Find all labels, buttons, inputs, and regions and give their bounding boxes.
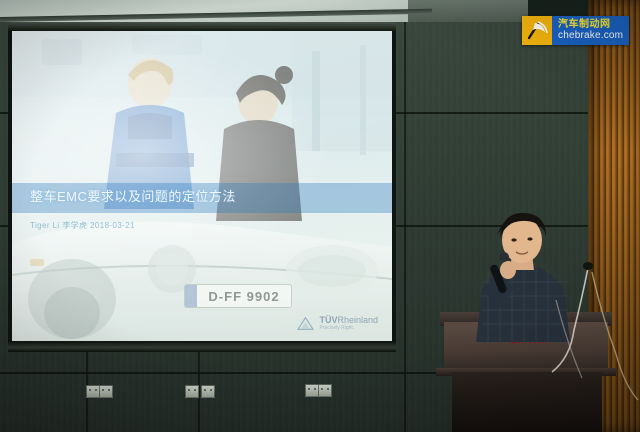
license-plate-number: D-FF 9902 xyxy=(197,289,291,304)
podium-base xyxy=(452,372,602,432)
screen-surface: 整车EMC要求以及问题的定位方法 Tiger Li 李学虎 2018-03-21… xyxy=(12,31,392,341)
slide-title: 整车EMC要求以及问题的定位方法 xyxy=(30,186,236,205)
screen-bottom-rail xyxy=(8,341,396,352)
tuv-tagline: Precisely Right. xyxy=(319,326,378,331)
watermark-text-block: 汽车制动网 chebrake.com xyxy=(552,16,629,45)
tuv-rheinland-logo: TÜVRheinland Precisely Right. xyxy=(297,316,378,331)
screen-top-rail xyxy=(8,22,396,31)
wall-vseam-center-right xyxy=(404,22,406,432)
conference-room-photo: 整车EMC要求以及问题的定位方法 Tiger Li 李学虎 2018-03-21… xyxy=(0,0,640,432)
chebrake-watermark: 汽车制动网 chebrake.com xyxy=(522,16,629,45)
watermark-badge-icon xyxy=(522,16,552,45)
watermark-url: chebrake.com xyxy=(558,31,623,42)
wall-outlet xyxy=(185,385,199,398)
watermark-chinese-name: 汽车制动网 xyxy=(558,20,623,31)
license-plate: D-FF 9902 xyxy=(184,284,292,308)
wall-outlet xyxy=(305,384,319,397)
tuv-triangle-icon xyxy=(297,316,314,331)
presenter xyxy=(468,212,576,342)
projected-slide: 整车EMC要求以及问题的定位方法 Tiger Li 李学虎 2018-03-21… xyxy=(12,31,392,341)
license-plate-eu-band xyxy=(185,285,197,307)
wall-outlet xyxy=(318,384,332,397)
slide-subtitle: Tiger Li 李学虎 2018-03-21 xyxy=(30,220,135,231)
brake-caliper-icon xyxy=(526,20,548,41)
wall-outlet xyxy=(86,385,100,398)
tuv-name-thin: Rheinland xyxy=(337,315,378,325)
tuv-name-bold: TÜV xyxy=(319,315,337,325)
wall-outlet xyxy=(201,385,215,398)
wall-outlet xyxy=(99,385,113,398)
tuv-wordmark: TÜVRheinland Precisely Right. xyxy=(319,316,378,331)
projection-screen: 整车EMC要求以及问题的定位方法 Tiger Li 李学虎 2018-03-21… xyxy=(8,22,396,352)
